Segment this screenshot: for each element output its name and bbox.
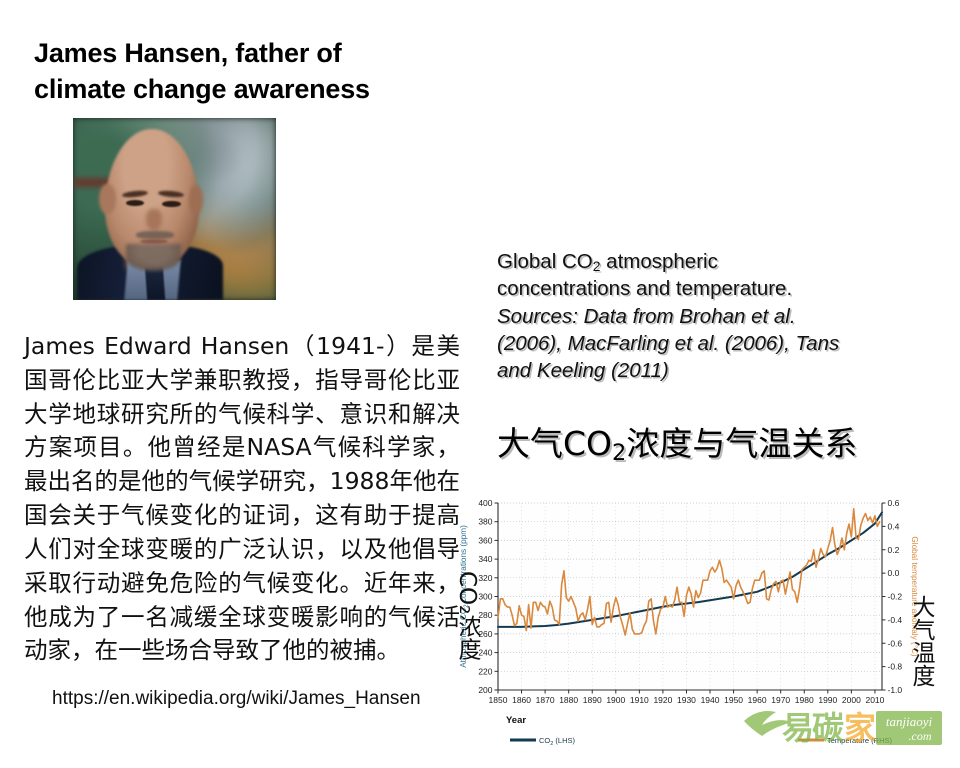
source-url[interactable]: https://en.wikipedia.org/wiki/James_Hans… <box>52 686 452 713</box>
slide-root: James Hansen, father of climate change a… <box>0 0 960 768</box>
portrait-moustache <box>136 231 175 239</box>
chart-caption-line-4: (2006), MacFarling et al. (2006), Tans <box>497 330 909 357</box>
co2-temperature-chart: 200220240260280300320340360380400-1.0-0.… <box>452 483 952 768</box>
biography-text: James Edward Hansen（1941-）是美国哥伦比亚大学兼职教授，… <box>24 330 460 668</box>
portrait-photo <box>73 118 276 300</box>
caption-text-a: Global CO <box>497 250 593 273</box>
tick-label-bottom: 1870 <box>536 695 555 705</box>
tick-label-right: -0.2 <box>888 592 903 602</box>
watermark: 易碳家tanjiaoyi.com <box>744 709 942 747</box>
axis-label-cn-left: CO₂浓度 <box>450 571 484 660</box>
tick-label-right: 0.4 <box>888 521 900 531</box>
tick-label-bottom: 1970 <box>771 695 790 705</box>
chart-svg: 200220240260280300320340360380400-1.0-0.… <box>452 483 952 768</box>
tick-label-bottom: 1980 <box>795 695 814 705</box>
tick-label-bottom: 2000 <box>842 695 861 705</box>
tick-label-bottom: 1900 <box>606 695 625 705</box>
tick-label-right: -0.8 <box>888 662 903 672</box>
tick-label-right: -0.6 <box>888 638 903 648</box>
chart-caption-line-1: Global CO2 atmospheric <box>497 248 909 275</box>
watermark-domain: tanjiaoyi <box>886 714 933 729</box>
chart-caption-line-5: and Keeling (2011) <box>497 357 909 384</box>
page-title: James Hansen, father of climate change a… <box>34 36 464 108</box>
chart-caption: Global CO2 atmospheric concentrations an… <box>497 248 909 384</box>
tick-label-left: 200 <box>478 685 492 695</box>
heading-text-b: 浓度与气温关系 <box>626 424 857 463</box>
tick-label-bottom: 1940 <box>701 695 720 705</box>
chart-heading-cn: 大气CO2浓度与气温关系 <box>497 417 857 466</box>
tick-label-right: 0.0 <box>888 568 900 578</box>
tick-label-bottom: 1850 <box>489 695 508 705</box>
heading-text-a: 大气CO <box>497 424 612 463</box>
tick-label-bottom: 1950 <box>724 695 743 705</box>
heading-subscript: 2 <box>612 440 626 466</box>
tick-label-right: -1.0 <box>888 685 903 695</box>
watermark-cn-2: 碳 <box>812 709 845 747</box>
tick-label-right: -0.4 <box>888 615 903 625</box>
tick-label-left: 220 <box>478 666 492 676</box>
chart-caption-line-2: concentrations and temperature. <box>497 275 909 302</box>
tick-label-bottom: 2010 <box>865 695 884 705</box>
tick-label-left: 360 <box>478 535 492 545</box>
tick-label-bottom: 1860 <box>512 695 531 705</box>
page-title-line-2: climate change awareness <box>34 72 464 108</box>
watermark-cn-3: 家 <box>844 709 876 747</box>
tick-label-bottom: 1910 <box>630 695 649 705</box>
tick-label-left: 340 <box>478 554 492 564</box>
tick-label-right: 0.2 <box>888 545 900 555</box>
axis-label-cn-right: 大气温度 <box>904 595 938 687</box>
page-title-line-1: James Hansen, father of <box>34 36 464 72</box>
tick-label-left: 400 <box>478 498 492 508</box>
portrait-ear-right <box>189 185 203 214</box>
tick-label-bottom: 1920 <box>653 695 672 705</box>
tick-label-bottom: 1960 <box>748 695 767 705</box>
legend-label-1: CO2 (LHS) <box>539 736 575 747</box>
watermark-cn-1: 易 <box>782 709 814 747</box>
caption-text-b: atmospheric <box>600 250 717 273</box>
portrait-beard <box>126 244 181 271</box>
watermark-tld: .com <box>909 729 932 743</box>
tick-label-bottom: 1990 <box>818 695 837 705</box>
portrait-ear-left <box>99 184 115 215</box>
tick-label-left: 380 <box>478 517 492 527</box>
tick-label-bottom: 1890 <box>583 695 602 705</box>
tick-label-right: 0.6 <box>888 498 900 508</box>
chart-caption-line-3: Sources: Data from Brohan et al. <box>497 303 909 330</box>
tick-label-bottom: 1880 <box>559 695 578 705</box>
tick-label-bottom: 1930 <box>677 695 696 705</box>
axis-title-x: Year <box>506 715 526 726</box>
